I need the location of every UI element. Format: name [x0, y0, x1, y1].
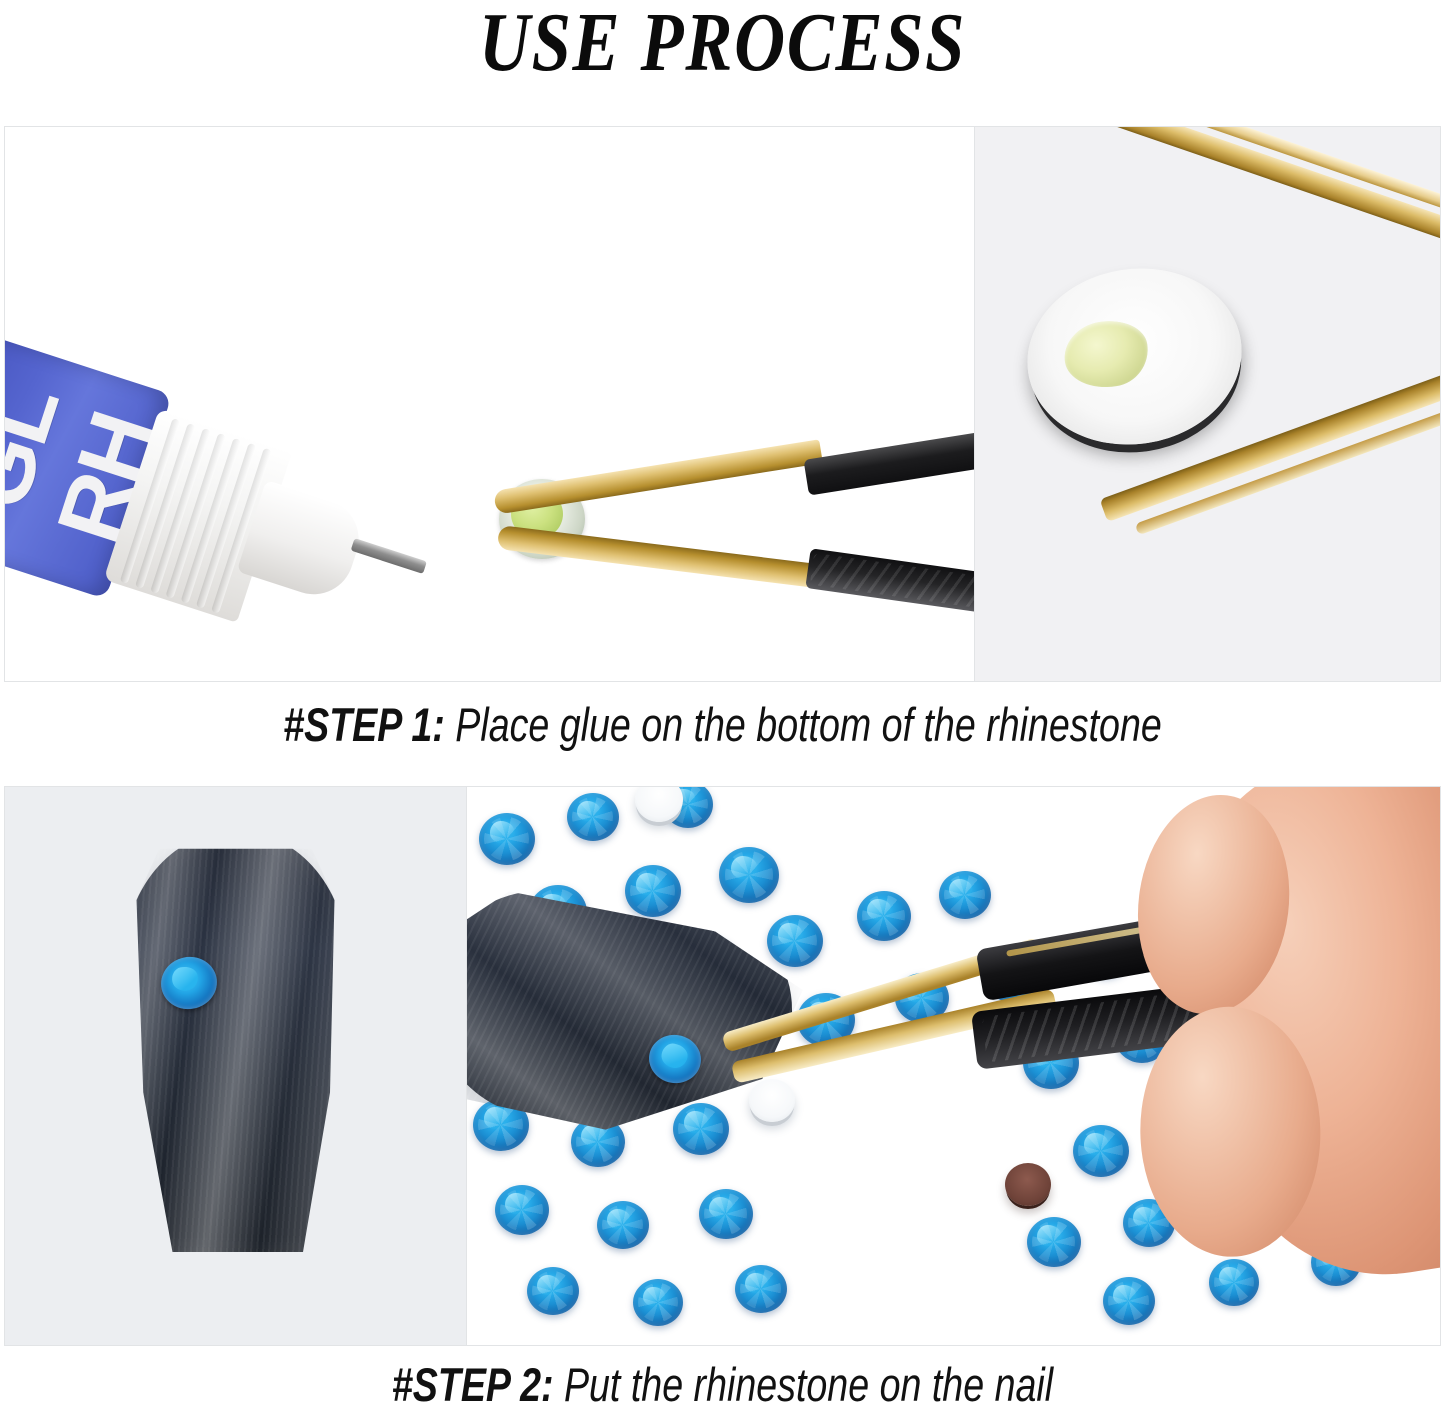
rhinestone — [479, 813, 535, 865]
rhinestone — [567, 793, 619, 841]
hand-holding-tweezers — [1171, 787, 1440, 1297]
tweezers-step1 — [475, 407, 974, 677]
page-title: USE PROCESS — [116, 0, 1330, 91]
finished-nail-photo — [5, 787, 466, 1345]
glue-needle-tip — [351, 538, 427, 574]
rhinestone — [495, 1185, 549, 1235]
tweezer-handle-upper — [804, 426, 975, 495]
step-1-image-row: GL RH — [4, 126, 1441, 682]
step-2-image-row — [4, 786, 1441, 1346]
rhinestone — [527, 1267, 579, 1315]
step-2-label: #STEP 2: — [392, 1358, 554, 1411]
rhinestone — [1209, 1259, 1259, 1306]
rhinestone-flat-back-with-glue — [1015, 253, 1255, 459]
rhinestone — [1103, 1277, 1155, 1325]
step-2-caption: #STEP 2: Put the rhinestone on the nail — [145, 1357, 1301, 1412]
step-1-caption: #STEP 1: Place glue on the bottom of the… — [145, 697, 1301, 752]
tweezer-handle-lower — [805, 548, 974, 618]
glue-bottle: GL RH — [5, 317, 343, 654]
rhinestone — [1027, 1217, 1081, 1267]
step-1-label: #STEP 1: — [283, 698, 445, 751]
rhinestone — [633, 1279, 683, 1326]
step-2-text: Put the rhinestone on the nail — [554, 1358, 1054, 1411]
press-on-nail-tip — [123, 832, 348, 1252]
placing-rhinestone-photo — [466, 787, 1440, 1345]
step-1-text: Place glue on the bottom of the rhinesto… — [445, 698, 1162, 751]
tweezer-gold-tip-upper — [493, 439, 823, 514]
rhinestone — [625, 865, 681, 917]
glue-application-photo: GL RH — [5, 127, 974, 681]
rhinestone — [597, 1201, 649, 1249]
rhinestone — [735, 1265, 787, 1313]
glue-on-rhinestone-backing-photo — [974, 127, 1440, 681]
